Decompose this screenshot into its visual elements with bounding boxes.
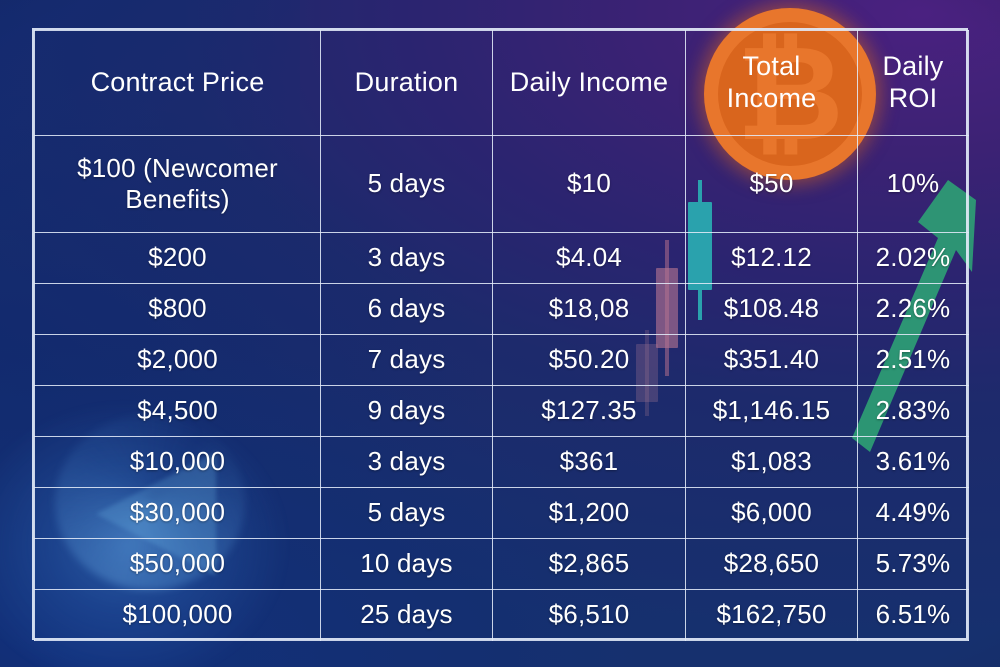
- cell-daily-income: $127.35: [493, 386, 686, 437]
- cell-contract-price: $50,000: [35, 539, 321, 590]
- cell-contract-price-line2: Benefits): [39, 184, 316, 215]
- cell-contract-price-line1: $100 (Newcomer: [39, 153, 316, 184]
- cell-contract-price: $30,000: [35, 488, 321, 539]
- table-row: $2,000 7 days $50.20 $351.40 2.51%: [35, 335, 969, 386]
- header-daily-roi: Daily ROI: [858, 31, 969, 136]
- cell-duration: 3 days: [321, 233, 493, 284]
- cell-total-income: $351.40: [686, 335, 858, 386]
- pricing-table-grid: Contract Price Duration Daily Income Tot…: [34, 30, 969, 641]
- table-row: $10,000 3 days $361 $1,083 3.61%: [35, 437, 969, 488]
- cell-daily-roi: 10%: [858, 136, 969, 233]
- cell-duration: 9 days: [321, 386, 493, 437]
- cell-daily-roi: 2.26%: [858, 284, 969, 335]
- cell-daily-income: $1,200: [493, 488, 686, 539]
- cell-total-income: $12.12: [686, 233, 858, 284]
- cell-duration: 3 days: [321, 437, 493, 488]
- header-daily-income: Daily Income: [493, 31, 686, 136]
- cell-daily-income: $2,865: [493, 539, 686, 590]
- cell-daily-roi: 6.51%: [858, 590, 969, 641]
- cell-daily-roi: 5.73%: [858, 539, 969, 590]
- cell-daily-income: $6,510: [493, 590, 686, 641]
- cell-daily-income: $18,08: [493, 284, 686, 335]
- table-head: Contract Price Duration Daily Income Tot…: [35, 31, 969, 136]
- header-total-income: Total Income: [686, 31, 858, 136]
- table-header-row: Contract Price Duration Daily Income Tot…: [35, 31, 969, 136]
- cell-duration: 25 days: [321, 590, 493, 641]
- cell-contract-price: $10,000: [35, 437, 321, 488]
- cell-daily-income: $50.20: [493, 335, 686, 386]
- cell-daily-income: $361: [493, 437, 686, 488]
- cell-duration: 6 days: [321, 284, 493, 335]
- cell-contract-price: $200: [35, 233, 321, 284]
- header-contract-price: Contract Price: [35, 31, 321, 136]
- cell-daily-income: $10: [493, 136, 686, 233]
- cell-daily-roi: 3.61%: [858, 437, 969, 488]
- header-total-income-line2: Income: [690, 83, 853, 115]
- cell-daily-roi: 4.49%: [858, 488, 969, 539]
- cell-total-income: $28,650: [686, 539, 858, 590]
- cell-duration: 5 days: [321, 488, 493, 539]
- cell-total-income: $50: [686, 136, 858, 233]
- cell-daily-roi: 2.51%: [858, 335, 969, 386]
- cell-total-income: $108.48: [686, 284, 858, 335]
- cell-contract-price: $4,500: [35, 386, 321, 437]
- cell-contract-price: $2,000: [35, 335, 321, 386]
- table-row: $50,000 10 days $2,865 $28,650 5.73%: [35, 539, 969, 590]
- cell-duration: 7 days: [321, 335, 493, 386]
- cell-daily-roi: 2.83%: [858, 386, 969, 437]
- table-row: $800 6 days $18,08 $108.48 2.26%: [35, 284, 969, 335]
- cell-contract-price: $100 (Newcomer Benefits): [35, 136, 321, 233]
- cell-contract-price: $100,000: [35, 590, 321, 641]
- table-row: $4,500 9 days $127.35 $1,146.15 2.83%: [35, 386, 969, 437]
- cell-daily-roi: 2.02%: [858, 233, 969, 284]
- cell-total-income: $162,750: [686, 590, 858, 641]
- pricing-table: Contract Price Duration Daily Income Tot…: [32, 28, 968, 640]
- cell-duration: 10 days: [321, 539, 493, 590]
- header-daily-roi-line2: ROI: [862, 83, 964, 115]
- slide-canvas: ₿ Contract Price Duration Daily Income T…: [0, 0, 1000, 667]
- header-daily-roi-line1: Daily: [862, 51, 964, 83]
- header-duration: Duration: [321, 31, 493, 136]
- table-row: $100 (Newcomer Benefits) 5 days $10 $50 …: [35, 136, 969, 233]
- table-row: $30,000 5 days $1,200 $6,000 4.49%: [35, 488, 969, 539]
- cell-total-income: $6,000: [686, 488, 858, 539]
- table-row: $100,000 25 days $6,510 $162,750 6.51%: [35, 590, 969, 641]
- cell-daily-income: $4.04: [493, 233, 686, 284]
- cell-contract-price: $800: [35, 284, 321, 335]
- cell-total-income: $1,083: [686, 437, 858, 488]
- cell-total-income: $1,146.15: [686, 386, 858, 437]
- table-row: $200 3 days $4.04 $12.12 2.02%: [35, 233, 969, 284]
- header-total-income-line1: Total: [690, 51, 853, 83]
- cell-duration: 5 days: [321, 136, 493, 233]
- table-body: $100 (Newcomer Benefits) 5 days $10 $50 …: [35, 136, 969, 641]
